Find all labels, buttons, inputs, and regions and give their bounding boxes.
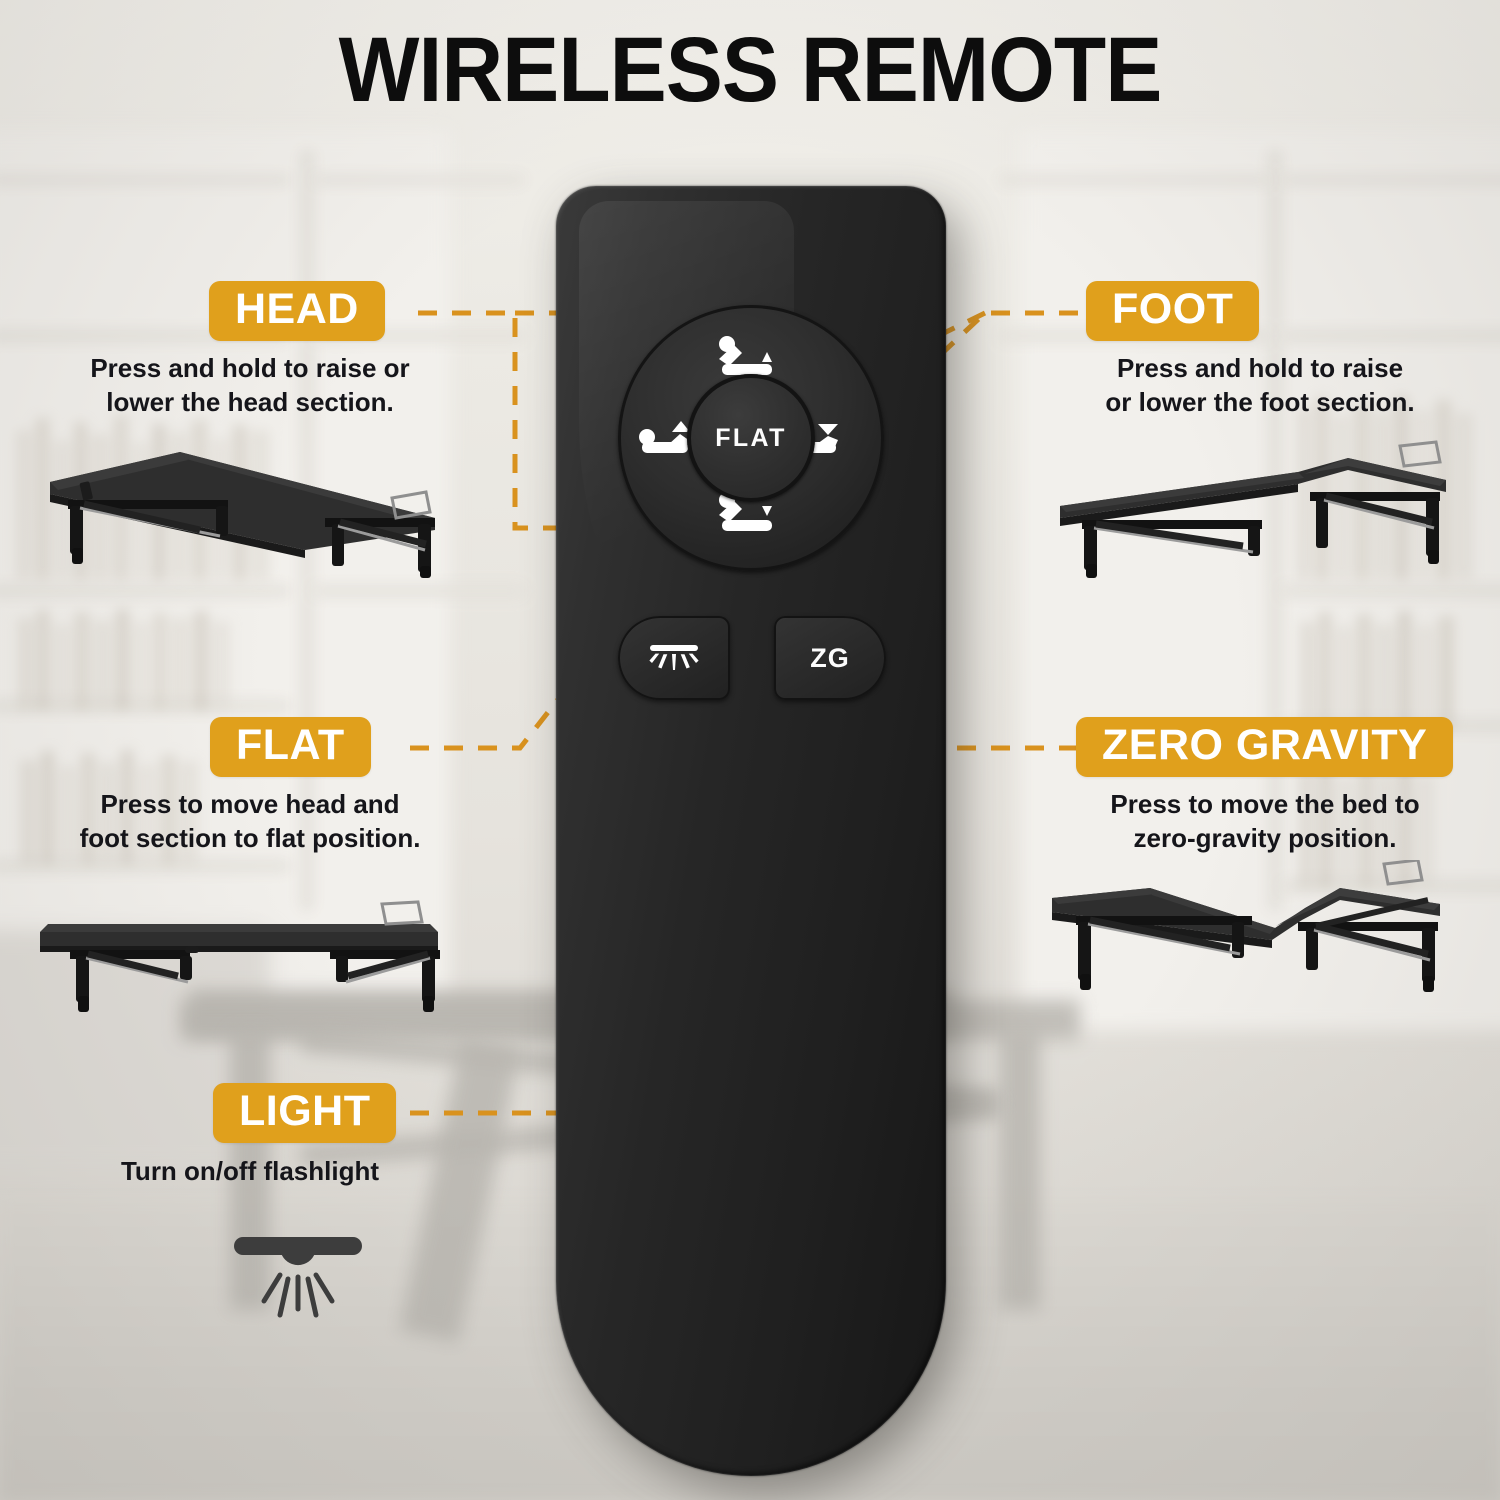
description-head: Press and hold to raise or lower the hea… [40, 352, 460, 420]
bed-frame-head-raised [50, 452, 435, 578]
description-flat: Press to move head and foot section to f… [30, 788, 470, 856]
bed-image-flat [30, 890, 450, 1030]
dpad-cluster[interactable]: FLAT [618, 305, 884, 571]
zg-button-label: ZG [810, 643, 850, 674]
bed-frame-flat [40, 902, 440, 1012]
infographic-canvas: WIRELESS REMOTE [0, 0, 1500, 1500]
flat-button[interactable]: FLAT [687, 374, 815, 502]
flashlight-illustration [218, 1225, 378, 1340]
flat-button-label: FLAT [715, 424, 787, 453]
lamp-rays-icon [218, 1225, 378, 1335]
flashlight-rays-icon [646, 636, 702, 680]
bed-image-zero-gravity [1040, 860, 1460, 1010]
badge-light: LIGHT [213, 1083, 396, 1143]
description-foot: Press and hold to raise or lower the foo… [1050, 352, 1470, 420]
bed-frame-foot-raised [1060, 442, 1446, 578]
zero-gravity-button[interactable]: ZG [774, 616, 886, 700]
badge-flat: FLAT [210, 717, 371, 777]
remote-control-body: FLAT ZG [556, 186, 946, 1476]
bed-image-foot-raised [1048, 440, 1458, 580]
light-button[interactable] [618, 616, 730, 700]
description-light: Turn on/off flashlight [40, 1155, 460, 1189]
badge-foot: FOOT [1086, 281, 1259, 341]
badge-zero-gravity: ZERO GRAVITY [1076, 717, 1453, 777]
badge-head: HEAD [209, 281, 385, 341]
bed-image-head-raised [40, 440, 450, 580]
description-zero-gravity: Press to move the bed to zero-gravity po… [1050, 788, 1480, 856]
bed-frame-zero-gravity [1052, 860, 1440, 992]
